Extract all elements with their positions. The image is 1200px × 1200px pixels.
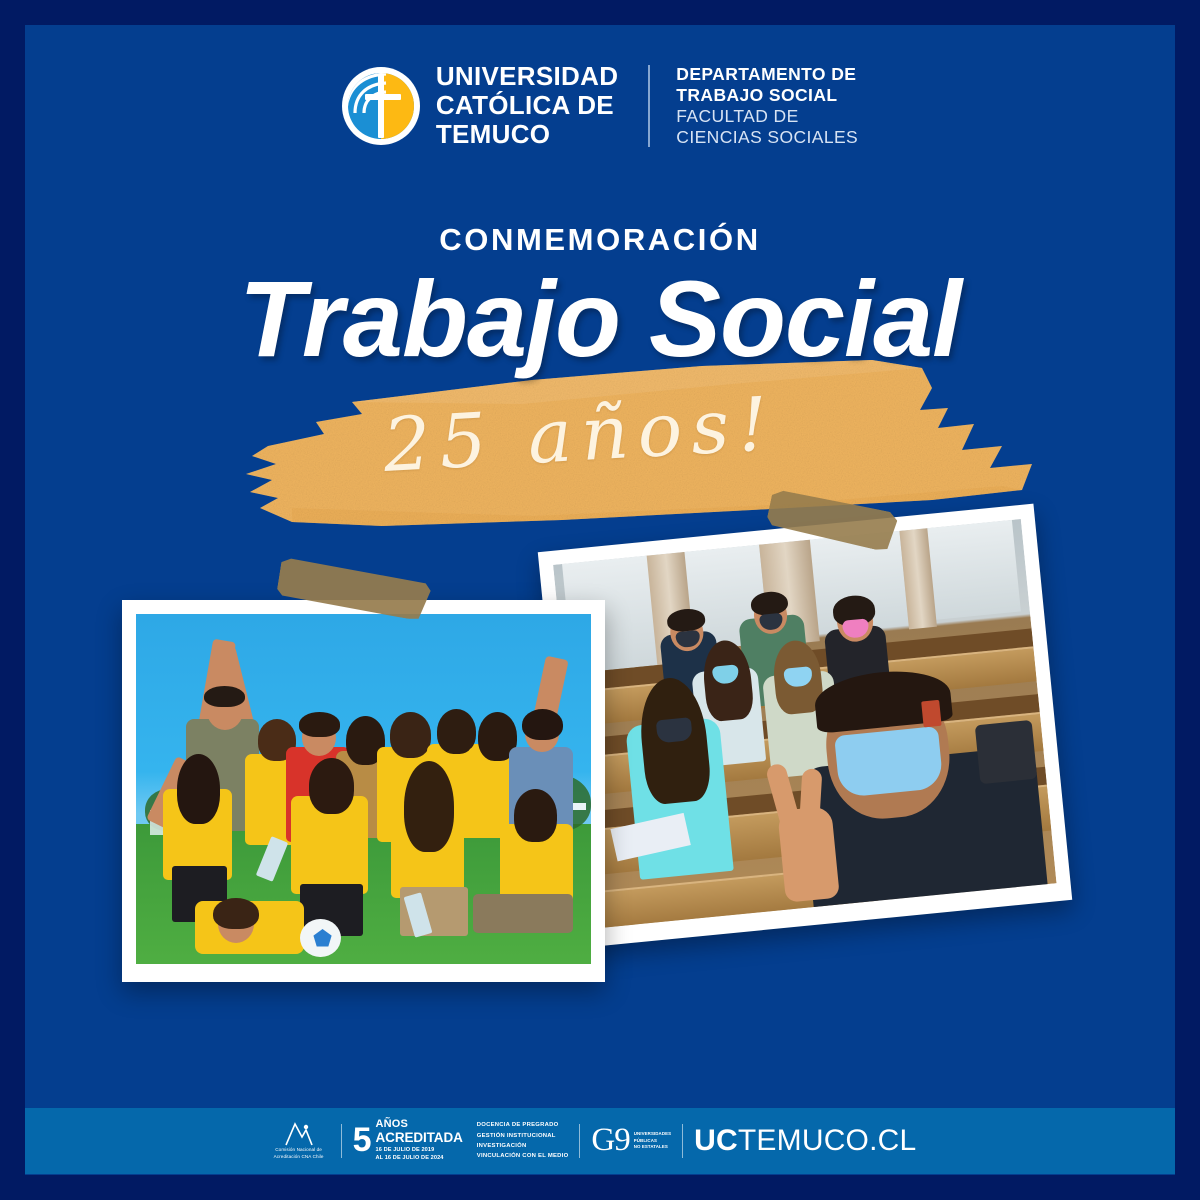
peace-sign-hand xyxy=(762,758,850,904)
cna-accreditation-logo: Comisión Nacional de Acreditación CNA Ch… xyxy=(268,1121,330,1160)
accreditation-area-1: GESTIÓN INSTITUCIONAL xyxy=(477,1131,569,1141)
accreditation-area-0: DOCENCIA DE PREGRADO xyxy=(477,1120,569,1130)
photo-soccer-field-group-image xyxy=(136,614,591,964)
university-line-3: TEMUCO xyxy=(436,120,618,149)
g9-logo: G9 UNIVERSIDADES PÚBLICAS NO ESTATALES xyxy=(591,1126,671,1156)
department-block: DEPARTAMENTO DE TRABAJO SOCIAL FACULTAD … xyxy=(676,64,858,148)
eyebrow-text: CONMEMORACIÓN xyxy=(0,222,1200,258)
g9-mark-text: G9 xyxy=(591,1126,629,1156)
accreditation-anos-label: AÑOS xyxy=(376,1119,463,1131)
footer-divider-1 xyxy=(341,1124,342,1158)
g9-caption-line-2: PÚBLICAS xyxy=(634,1138,671,1145)
cna-caption: Comisión Nacional de Acreditación CNA Ch… xyxy=(268,1147,330,1160)
university-logo-block: UNIVERSIDAD CATÓLICA DE TEMUCO xyxy=(342,62,618,149)
g9-caption: UNIVERSIDADES PÚBLICAS NO ESTATALES xyxy=(634,1131,671,1156)
page-title: Trabajo Social xyxy=(0,256,1200,381)
university-name: UNIVERSIDAD CATÓLICA DE TEMUCO xyxy=(436,62,618,149)
department-line-2: TRABAJO SOCIAL xyxy=(676,85,858,106)
accreditation-date-to: AL 16 DE JULIO DE 2024 xyxy=(376,1154,463,1162)
footer-divider-3 xyxy=(682,1124,683,1158)
accreditation-badge: 5 AÑOS ACREDITADA 16 DE JULIO DE 2019 AL… xyxy=(353,1119,569,1163)
department-line-1: DEPARTAMENTO DE xyxy=(676,64,858,85)
accreditation-area-3: VINCULACIÓN CON EL MEDIO xyxy=(477,1151,569,1161)
accreditation-area-2: INVESTIGACIÓN xyxy=(477,1141,569,1151)
website-url-light: TEMUCO.CL xyxy=(738,1124,916,1157)
university-line-2: CATÓLICA DE xyxy=(436,91,618,120)
brand-divider xyxy=(648,65,650,147)
brand-lockup: UNIVERSIDAD CATÓLICA DE TEMUCO DEPARTAME… xyxy=(0,62,1200,149)
university-line-1: UNIVERSIDAD xyxy=(436,62,618,91)
photo-classroom-selfie[interactable] xyxy=(538,504,1072,949)
footer-bar: Comisión Nacional de Acreditación CNA Ch… xyxy=(25,1108,1175,1174)
website-url-bold: UC xyxy=(694,1124,738,1157)
g9-caption-line-1: UNIVERSIDADES xyxy=(634,1131,671,1138)
photo-classroom-selfie-image xyxy=(553,519,1056,929)
faculty-line-1: FACULTAD DE xyxy=(676,106,858,127)
cna-mark-icon xyxy=(282,1121,316,1147)
website-url[interactable]: UCTEMUCO.CL xyxy=(694,1124,916,1158)
photo-soccer-field-group[interactable] xyxy=(122,600,605,982)
uc-temuco-logo-icon xyxy=(342,67,420,145)
footer-divider-2 xyxy=(579,1124,580,1158)
faculty-line-2: CIENCIAS SOCIALES xyxy=(676,127,858,148)
accreditation-date-from: 16 DE JULIO DE 2019 xyxy=(376,1146,463,1154)
accreditation-word: ACREDITADA xyxy=(376,1131,463,1145)
g9-caption-line-3: NO ESTATALES xyxy=(634,1144,671,1151)
accreditation-years-number: 5 xyxy=(353,1126,371,1155)
poster-canvas: UNIVERSIDAD CATÓLICA DE TEMUCO DEPARTAME… xyxy=(0,0,1200,1200)
accreditation-areas: DOCENCIA DE PREGRADO GESTIÓN INSTITUCION… xyxy=(477,1120,569,1161)
